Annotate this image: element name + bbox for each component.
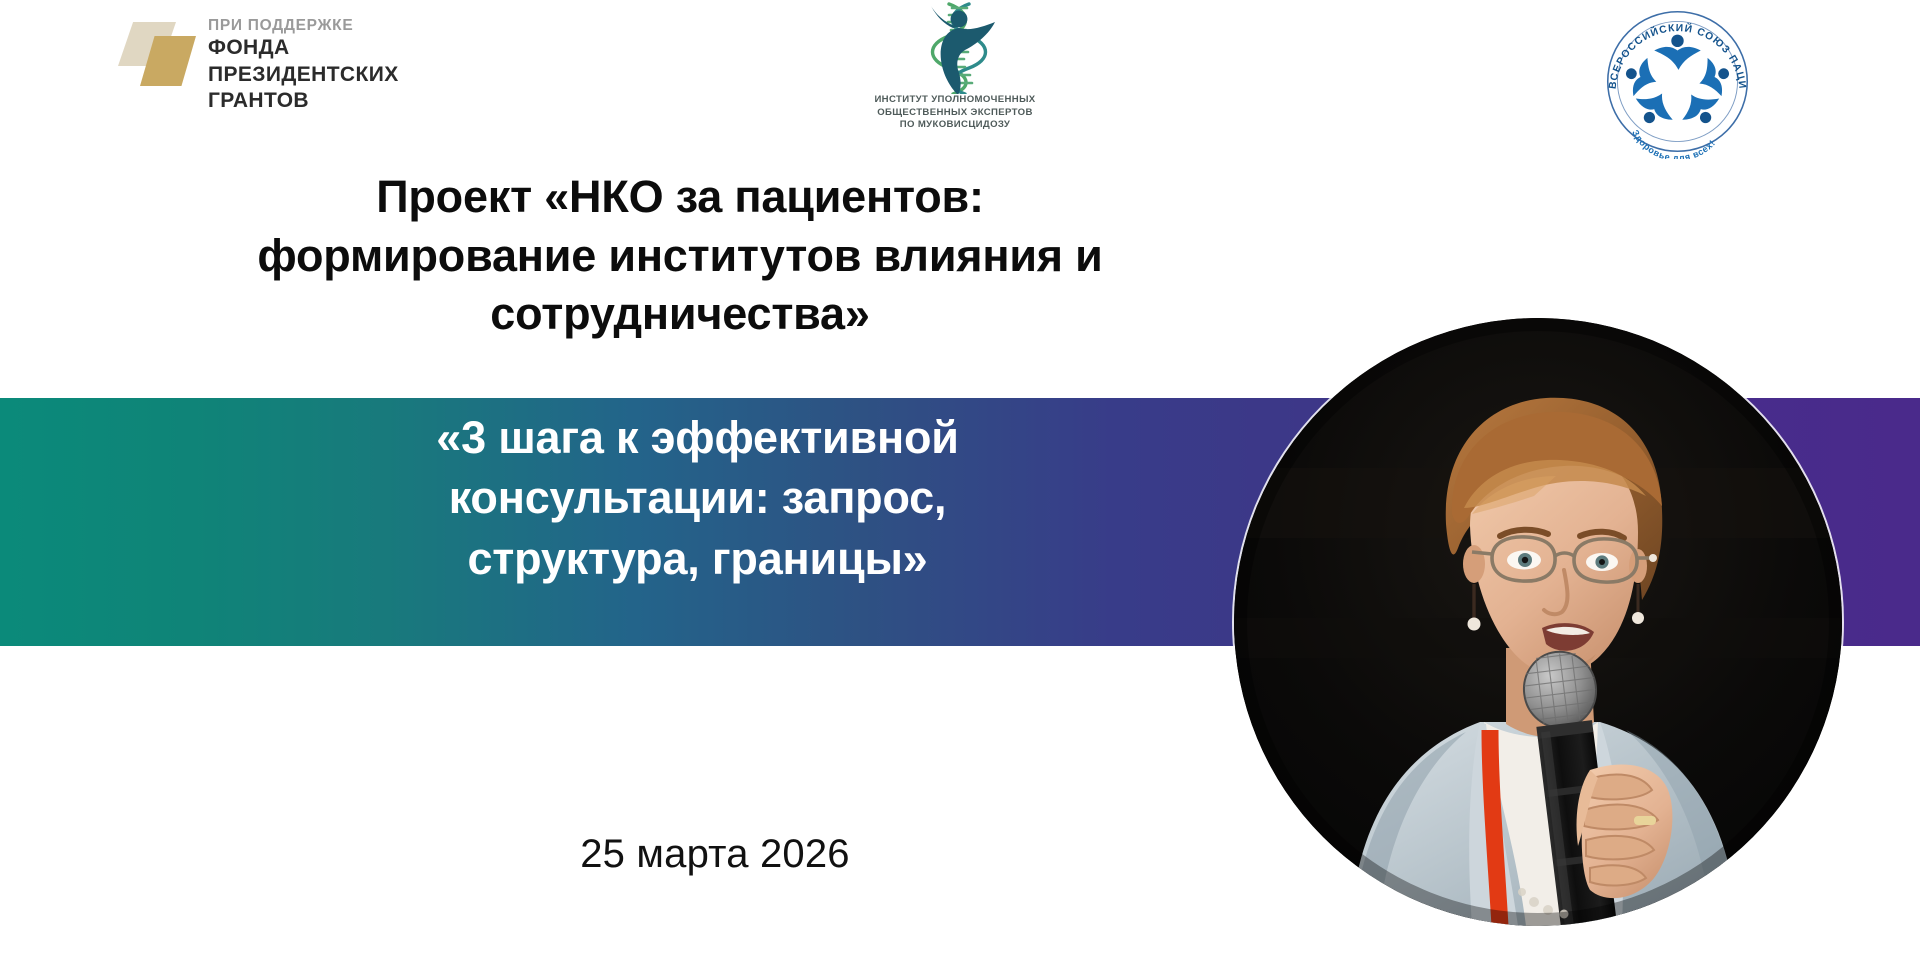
speaker-portrait-illustration bbox=[1234, 318, 1842, 926]
banner-title-line-2: консультации: запрос, bbox=[135, 468, 1260, 528]
logo-row: ПРИ ПОДДЕРЖКЕ ФОНДА ПРЕЗИДЕНТСКИХ ГРАНТО… bbox=[0, 0, 1920, 165]
patients-union-logo: ВСЕРОССИЙСКИЙ СОЮЗ ПАЦИЕНТОВ Здоровье дл… bbox=[1580, 4, 1775, 159]
presidential-grants-fund-text: ПРИ ПОДДЕРЖКЕ ФОНДА ПРЕЗИДЕНТСКИХ ГРАНТО… bbox=[208, 12, 399, 115]
institute-logo: ИНСТИТУТ УПОЛНОМОЧЕННЫХ ОБЩЕСТВЕННЫХ ЭКС… bbox=[830, 2, 1080, 132]
institute-line-2: ОБЩЕСТВЕННЫХ ЭКСПЕРТОВ bbox=[830, 107, 1080, 120]
title-slide: ПРИ ПОДДЕРЖКЕ ФОНДА ПРЕЗИДЕНТСКИХ ГРАНТО… bbox=[0, 0, 1920, 960]
institute-line-1: ИНСТИТУТ УПОЛНОМОЧЕННЫХ bbox=[830, 94, 1080, 107]
main-title-line-1: Проект «НКО за пациентов: bbox=[100, 168, 1260, 227]
event-date: 25 марта 2026 bbox=[180, 832, 1250, 877]
pgf-line-grantov: ГРАНТОВ bbox=[208, 88, 399, 114]
pgf-line-fonda: ФОНДА bbox=[208, 35, 399, 61]
presidential-grants-fund-logo: ПРИ ПОДДЕРЖКЕ ФОНДА ПРЕЗИДЕНТСКИХ ГРАНТО… bbox=[118, 12, 399, 115]
main-title-line-3: сотрудничества» bbox=[100, 285, 1260, 344]
banner-subtitle: «3 шага к эффективной консультации: запр… bbox=[135, 408, 1260, 589]
main-title: Проект «НКО за пациентов: формирование и… bbox=[100, 168, 1260, 344]
institute-line-3: ПО МУКОВИСЦИДОЗУ bbox=[830, 119, 1080, 132]
speaker-portrait-icon bbox=[1234, 318, 1842, 926]
institute-logo-text: ИНСТИТУТ УПОЛНОМОЧЕННЫХ ОБЩЕСТВЕННЫХ ЭКС… bbox=[830, 94, 1080, 132]
banner-title-line-1: «3 шага к эффективной bbox=[135, 408, 1260, 468]
main-title-line-2: формирование институтов влияния и bbox=[100, 227, 1260, 286]
dna-helix-human-figure-icon bbox=[830, 2, 1080, 94]
pgf-line-prezidentskih: ПРЕЗИДЕНТСКИХ bbox=[208, 62, 399, 88]
pgf-support-label: ПРИ ПОДДЕРЖКЕ bbox=[208, 16, 399, 35]
circle-of-people-icon: ВСЕРОССИЙСКИЙ СОЮЗ ПАЦИЕНТОВ Здоровье дл… bbox=[1580, 4, 1775, 159]
banner-title-line-3: структура, границы» bbox=[135, 529, 1260, 589]
two-gold-slabs-icon bbox=[118, 12, 196, 90]
